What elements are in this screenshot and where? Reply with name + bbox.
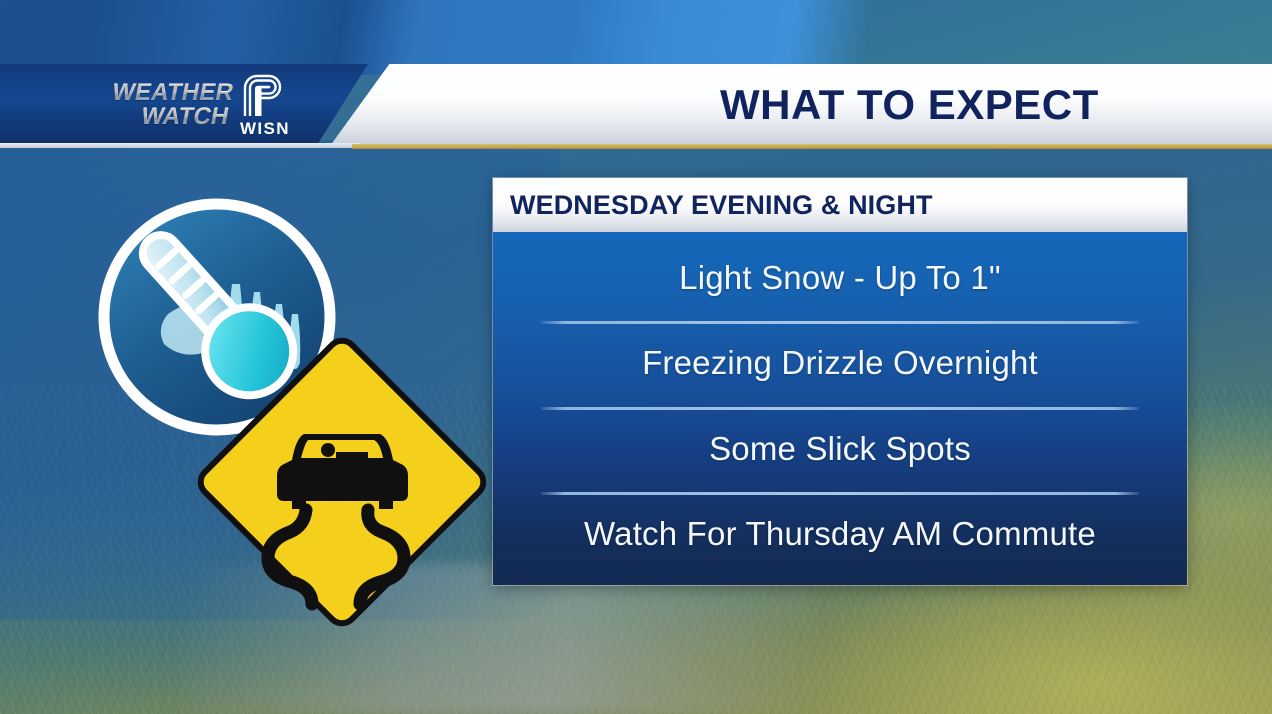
station-logo-block: WEATHER WATCH WISN <box>0 64 368 146</box>
forecast-panel: WEDNESDAY EVENING & NIGHT Light Snow - U… <box>493 178 1187 585</box>
panel-header: WEDNESDAY EVENING & NIGHT <box>493 178 1187 232</box>
bullet-text: Freezing Drizzle Overnight <box>618 345 1062 382</box>
channel-12-icon <box>239 72 291 118</box>
callsign-label: WISN <box>240 119 290 139</box>
bullet-text: Some Slick Spots <box>685 431 995 468</box>
list-item: Freezing Drizzle Overnight <box>493 321 1187 406</box>
header-underline-left <box>0 143 360 148</box>
bullet-text: Watch For Thursday AM Commute <box>560 516 1120 553</box>
weather-graphic-stage: WEATHER WATCH WISN <box>0 0 1272 714</box>
bullet-text: Light Snow - Up To 1" <box>655 260 1025 297</box>
slippery-road-sign-icon <box>196 336 488 628</box>
wisn-logo-mark: WISN <box>239 72 291 139</box>
station-logo: WEATHER WATCH WISN <box>110 70 340 140</box>
panel-heading: WEDNESDAY EVENING & NIGHT <box>510 190 933 221</box>
header-underline-gold <box>352 144 1272 149</box>
list-item: Some Slick Spots <box>493 407 1187 492</box>
weather-watch-wordmark: WEATHER WATCH <box>105 81 235 128</box>
page-title: WHAT TO EXPECT <box>720 81 1099 129</box>
logo-line-watch: WATCH <box>139 105 231 129</box>
list-item: Watch For Thursday AM Commute <box>493 492 1187 577</box>
panel-bullet-list: Light Snow - Up To 1" Freezing Drizzle O… <box>493 232 1187 585</box>
header-bar: WEATHER WATCH WISN <box>0 64 1272 146</box>
list-item: Light Snow - Up To 1" <box>493 236 1187 321</box>
logo-line-weather: WEATHER <box>110 81 236 105</box>
header-title-block: WHAT TO EXPECT <box>330 64 1272 146</box>
